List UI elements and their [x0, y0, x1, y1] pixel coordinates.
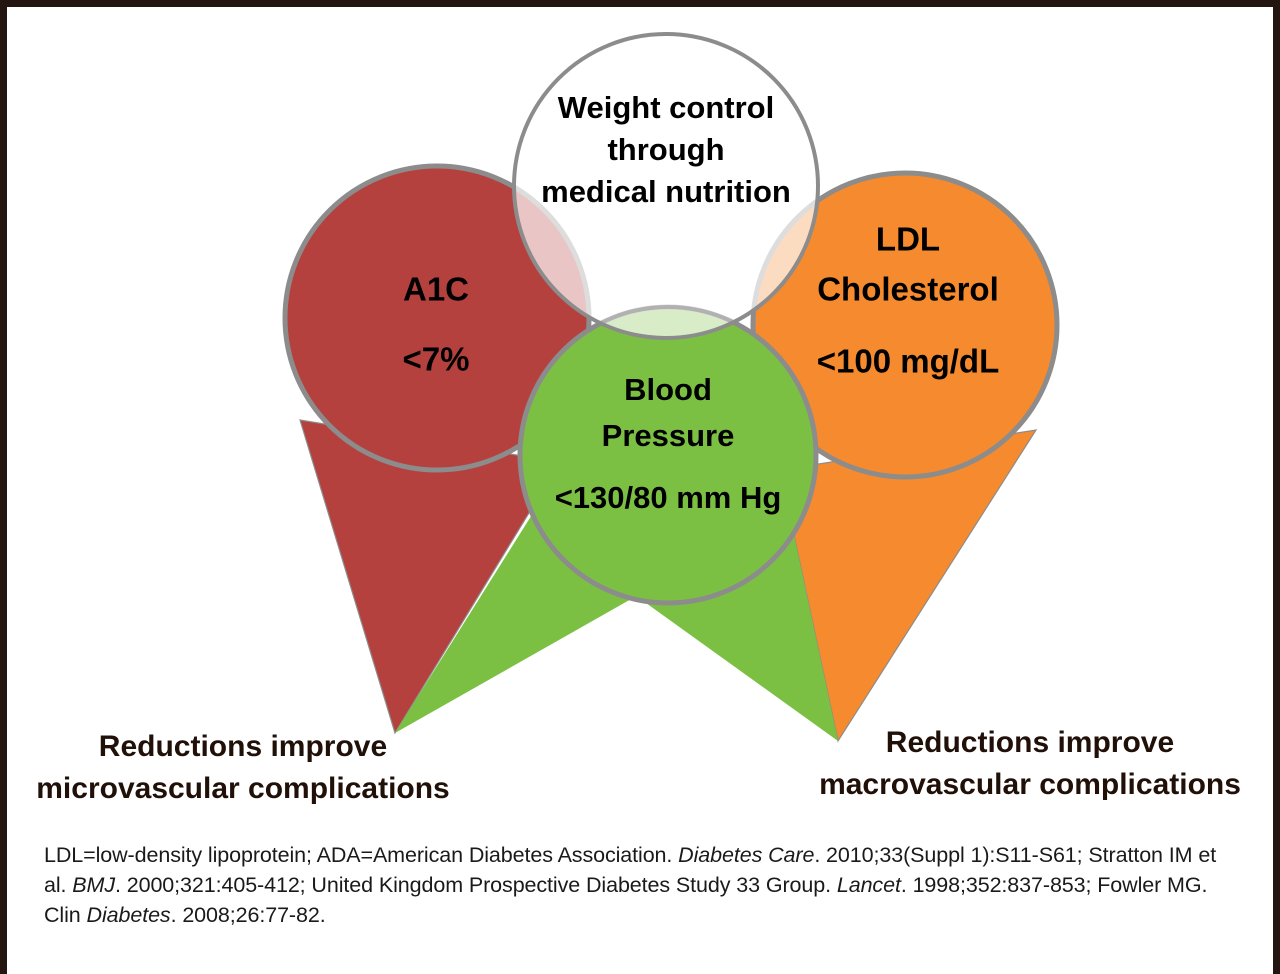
right-caption-line2: macrovascular complications	[819, 768, 1241, 801]
footnote-text-5: .	[901, 873, 913, 897]
ldl-label-line1: LDL	[876, 221, 940, 258]
footnote-text-1: LDL=low-density lipoprotein; ADA=America…	[44, 843, 678, 867]
footnote-text-2: . 2010;33(Suppl 1):S11-S61;	[814, 843, 1088, 867]
a1c-value: <7%	[403, 341, 470, 378]
ldl-value: <100 mg/dL	[817, 343, 999, 380]
right-caption-line1: Reductions improve	[886, 726, 1174, 759]
blood-pressure-value: <130/80 mm Hg	[555, 480, 782, 515]
weight-control-label-line3: medical nutrition	[541, 174, 791, 209]
venn-svg: Weight control through medical nutrition…	[0, 0, 1280, 820]
a1c-label: A1C	[403, 271, 469, 308]
ldl-label-line2: Cholesterol	[817, 271, 999, 308]
footnote-journal-diabetes-care: Diabetes Care	[678, 843, 814, 867]
left-caption-line1: Reductions improve	[99, 730, 387, 763]
footnote-text-4: . 2000;321:405-412; United Kingdom Prosp…	[115, 873, 837, 897]
venn-diagram: Weight control through medical nutrition…	[0, 0, 1280, 820]
blood-pressure-label-line1: Blood	[624, 372, 712, 407]
blood-pressure-label-line2: Pressure	[602, 418, 735, 453]
footnote-journal-clin-diabetes: Diabetes	[87, 903, 171, 927]
weight-control-label-line2: through	[607, 132, 724, 167]
footnote-citations: LDL=low-density lipoprotein; ADA=America…	[44, 840, 1244, 930]
footnote-journal-lancet: Lancet	[837, 873, 901, 897]
slide-page: Weight control through medical nutrition…	[0, 0, 1280, 974]
weight-control-label-line1: Weight control	[558, 90, 774, 125]
footnote-text-7: . 2008;26:77-82.	[171, 903, 326, 927]
left-caption-line2: microvascular complications	[36, 772, 450, 805]
footnote-journal-bmj: BMJ	[72, 873, 115, 897]
